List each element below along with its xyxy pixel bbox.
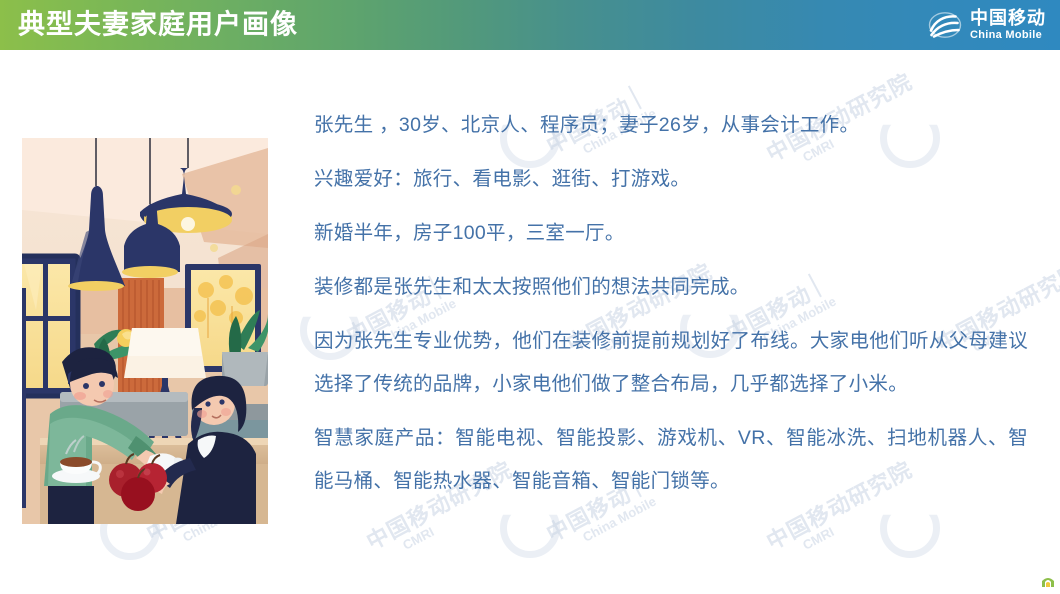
profile-paragraph: 智慧家庭产品：智能电视、智能投影、游戏机、VR、智能冰洗、扫地机器人、智能马桶、…: [314, 417, 1028, 503]
logo-text: 中国移动 China Mobile: [970, 9, 1046, 41]
watermark-ring: [500, 498, 560, 558]
slide: 中国移动 China Mobile 中国移动研究院 CMRI 中国移动 Chin…: [0, 0, 1060, 594]
watermark-ring: [880, 498, 940, 558]
profile-paragraph: 装修都是张先生和太太按照他们的想法共同完成。: [314, 266, 1028, 309]
china-mobile-wave-logo-icon: [928, 11, 962, 39]
profile-paragraph: 兴趣爱好：旅行、看电影、逛街、打游戏。: [314, 158, 1028, 201]
header-bar: 典型夫妻家庭用户画像 中国移动 China Mobile: [0, 0, 1060, 50]
profile-text-block: 张先生 ，30岁、北京人、程序员；妻子26岁，从事会计工作。 兴趣爱好：旅行、看…: [314, 104, 1028, 503]
page-title: 典型夫妻家庭用户画像: [18, 12, 298, 39]
profile-paragraph: 新婚半年，房子100平，三室一厅。: [314, 212, 1028, 255]
page-corner-mark: [1040, 574, 1056, 592]
profile-paragraph: 张先生 ，30岁、北京人、程序员；妻子26岁，从事会计工作。: [314, 104, 1028, 147]
logo-name-cn: 中国移动: [970, 9, 1046, 27]
logo-name-en: China Mobile: [970, 30, 1046, 41]
couple-at-home-illustration: [22, 138, 268, 524]
profile-paragraph: 因为张先生专业优势，他们在装修前提前规划好了布线。大家电他们听从父母建议选择了传…: [314, 320, 1028, 406]
illustration-svg: [22, 138, 268, 524]
china-mobile-logo: 中国移动 China Mobile: [928, 9, 1046, 41]
page-corner-mark-icon: [1040, 575, 1056, 587]
